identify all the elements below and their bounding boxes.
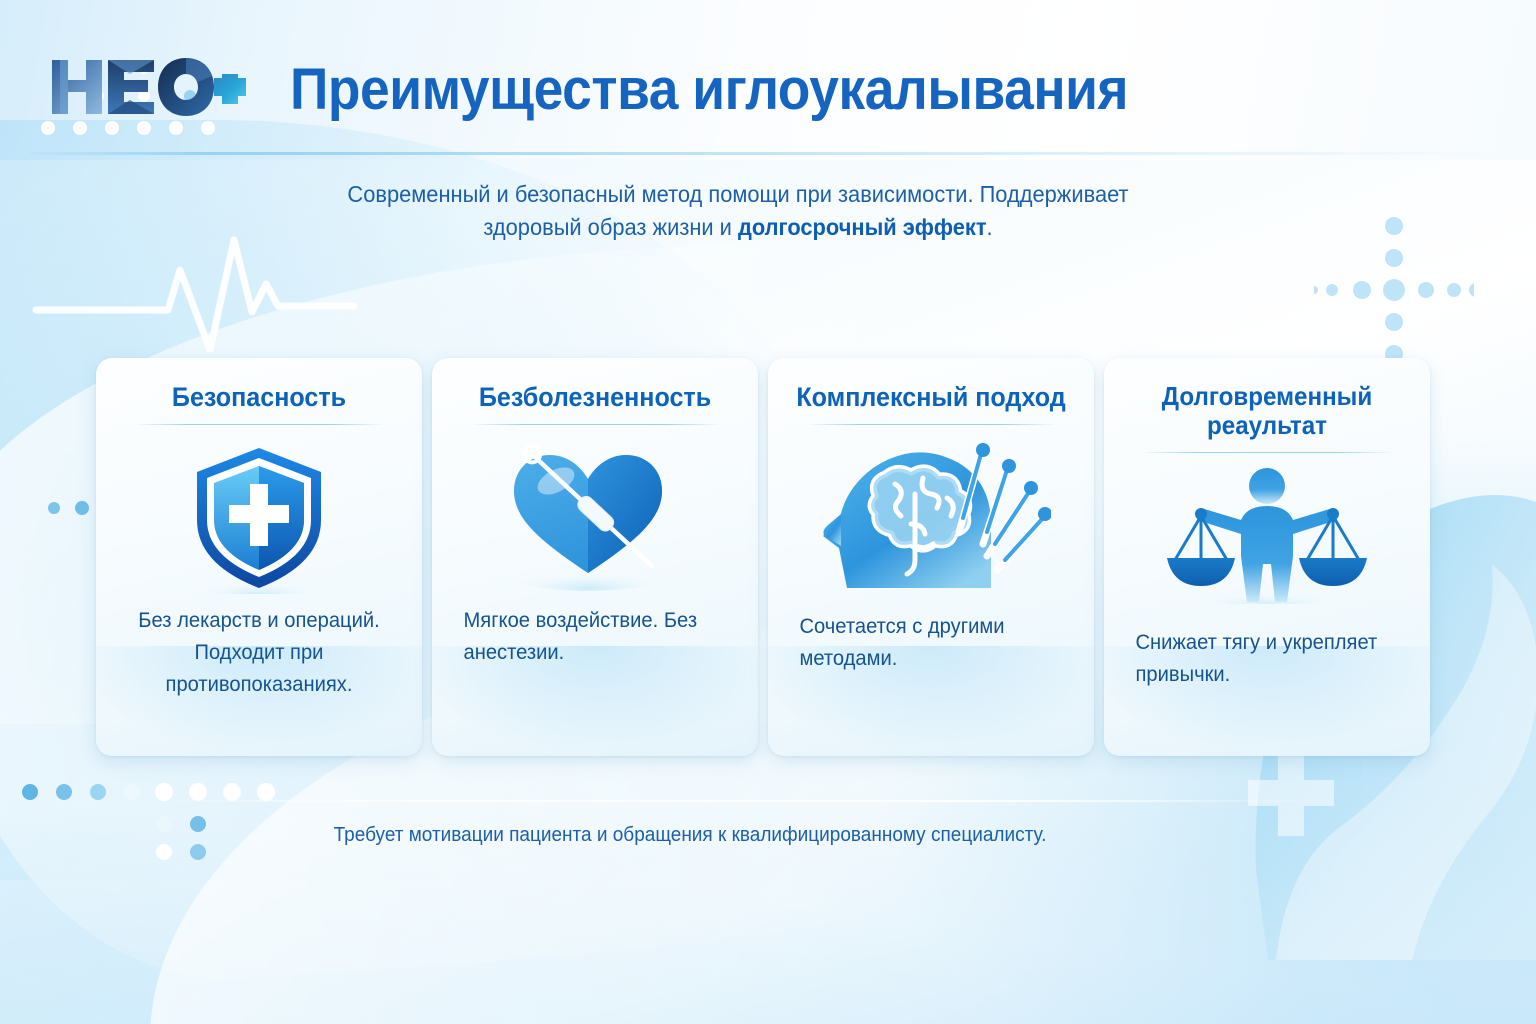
card-divider: [1141, 452, 1393, 453]
card-description: Без лекарств и операций. Подходит при пр…: [120, 605, 398, 701]
card-icon-slot: [432, 431, 758, 601]
footer-note: Требует мотивации пациента и обращения к…: [35, 824, 1346, 847]
page-title: Преимущества иглоукалывания: [290, 56, 1128, 123]
header-divider: [30, 152, 1510, 155]
card-title: Долговременный реаультат: [1130, 382, 1403, 440]
card-description: Снижает тягу и укрепляет привычки.: [1128, 627, 1406, 691]
footer-divider: [150, 800, 1330, 802]
background-sweep-bottom: [0, 724, 1536, 1024]
benefit-card-long-term-result[interactable]: Долговременный реаультат: [1104, 358, 1430, 756]
dotted-corner-pattern: [22, 756, 312, 876]
subtitle-line-1: Современный и безопасный метод помощи пр…: [347, 181, 1128, 207]
poster-header: Преимущества иглоукалывания: [0, 0, 1536, 152]
card-divider: [805, 424, 1057, 425]
shield-cross-icon: [193, 446, 325, 594]
heart-needle-icon: [500, 441, 690, 591]
dotted-cross-pattern: [1314, 208, 1474, 378]
card-description: Мягкое воздействие. Без анестезии.: [456, 605, 734, 669]
subtitle: Современный и безопасный метод помощи пр…: [292, 178, 1185, 243]
subtitle-line-2-suffix: .: [987, 214, 993, 240]
card-title: Комплексный подход: [794, 382, 1067, 412]
card-icon-slot: [96, 435, 422, 605]
card-icon-slot: [1104, 459, 1430, 609]
benefit-card-complex-approach[interactable]: Комплексный подход: [768, 358, 1094, 756]
benefit-cards-row: Безопасность: [96, 358, 1440, 758]
subtitle-line-2-prefix: здоровый образ жизни и: [483, 214, 738, 240]
card-divider: [469, 424, 721, 425]
infographic-poster: Преимущества иглоукалывания Современный …: [0, 0, 1536, 1024]
benefit-card-painless[interactable]: Безболезненность: [432, 358, 758, 756]
neo-plus-logo-icon: [46, 52, 246, 120]
head-brain-needles-icon: [811, 436, 1051, 596]
card-description: Сочетается с другими методами.: [792, 611, 1070, 675]
card-title: Безболезненность: [458, 382, 731, 412]
balance-scales-person-icon: [1157, 464, 1377, 604]
card-divider: [133, 424, 385, 425]
card-title: Безопасность: [122, 382, 395, 412]
subtitle-emphasis: долгосрочный эффект: [738, 214, 987, 240]
heartbeat-ecg-icon: [28, 232, 358, 352]
benefit-card-safety[interactable]: Безопасность: [96, 358, 422, 756]
card-icon-slot: [768, 431, 1094, 601]
